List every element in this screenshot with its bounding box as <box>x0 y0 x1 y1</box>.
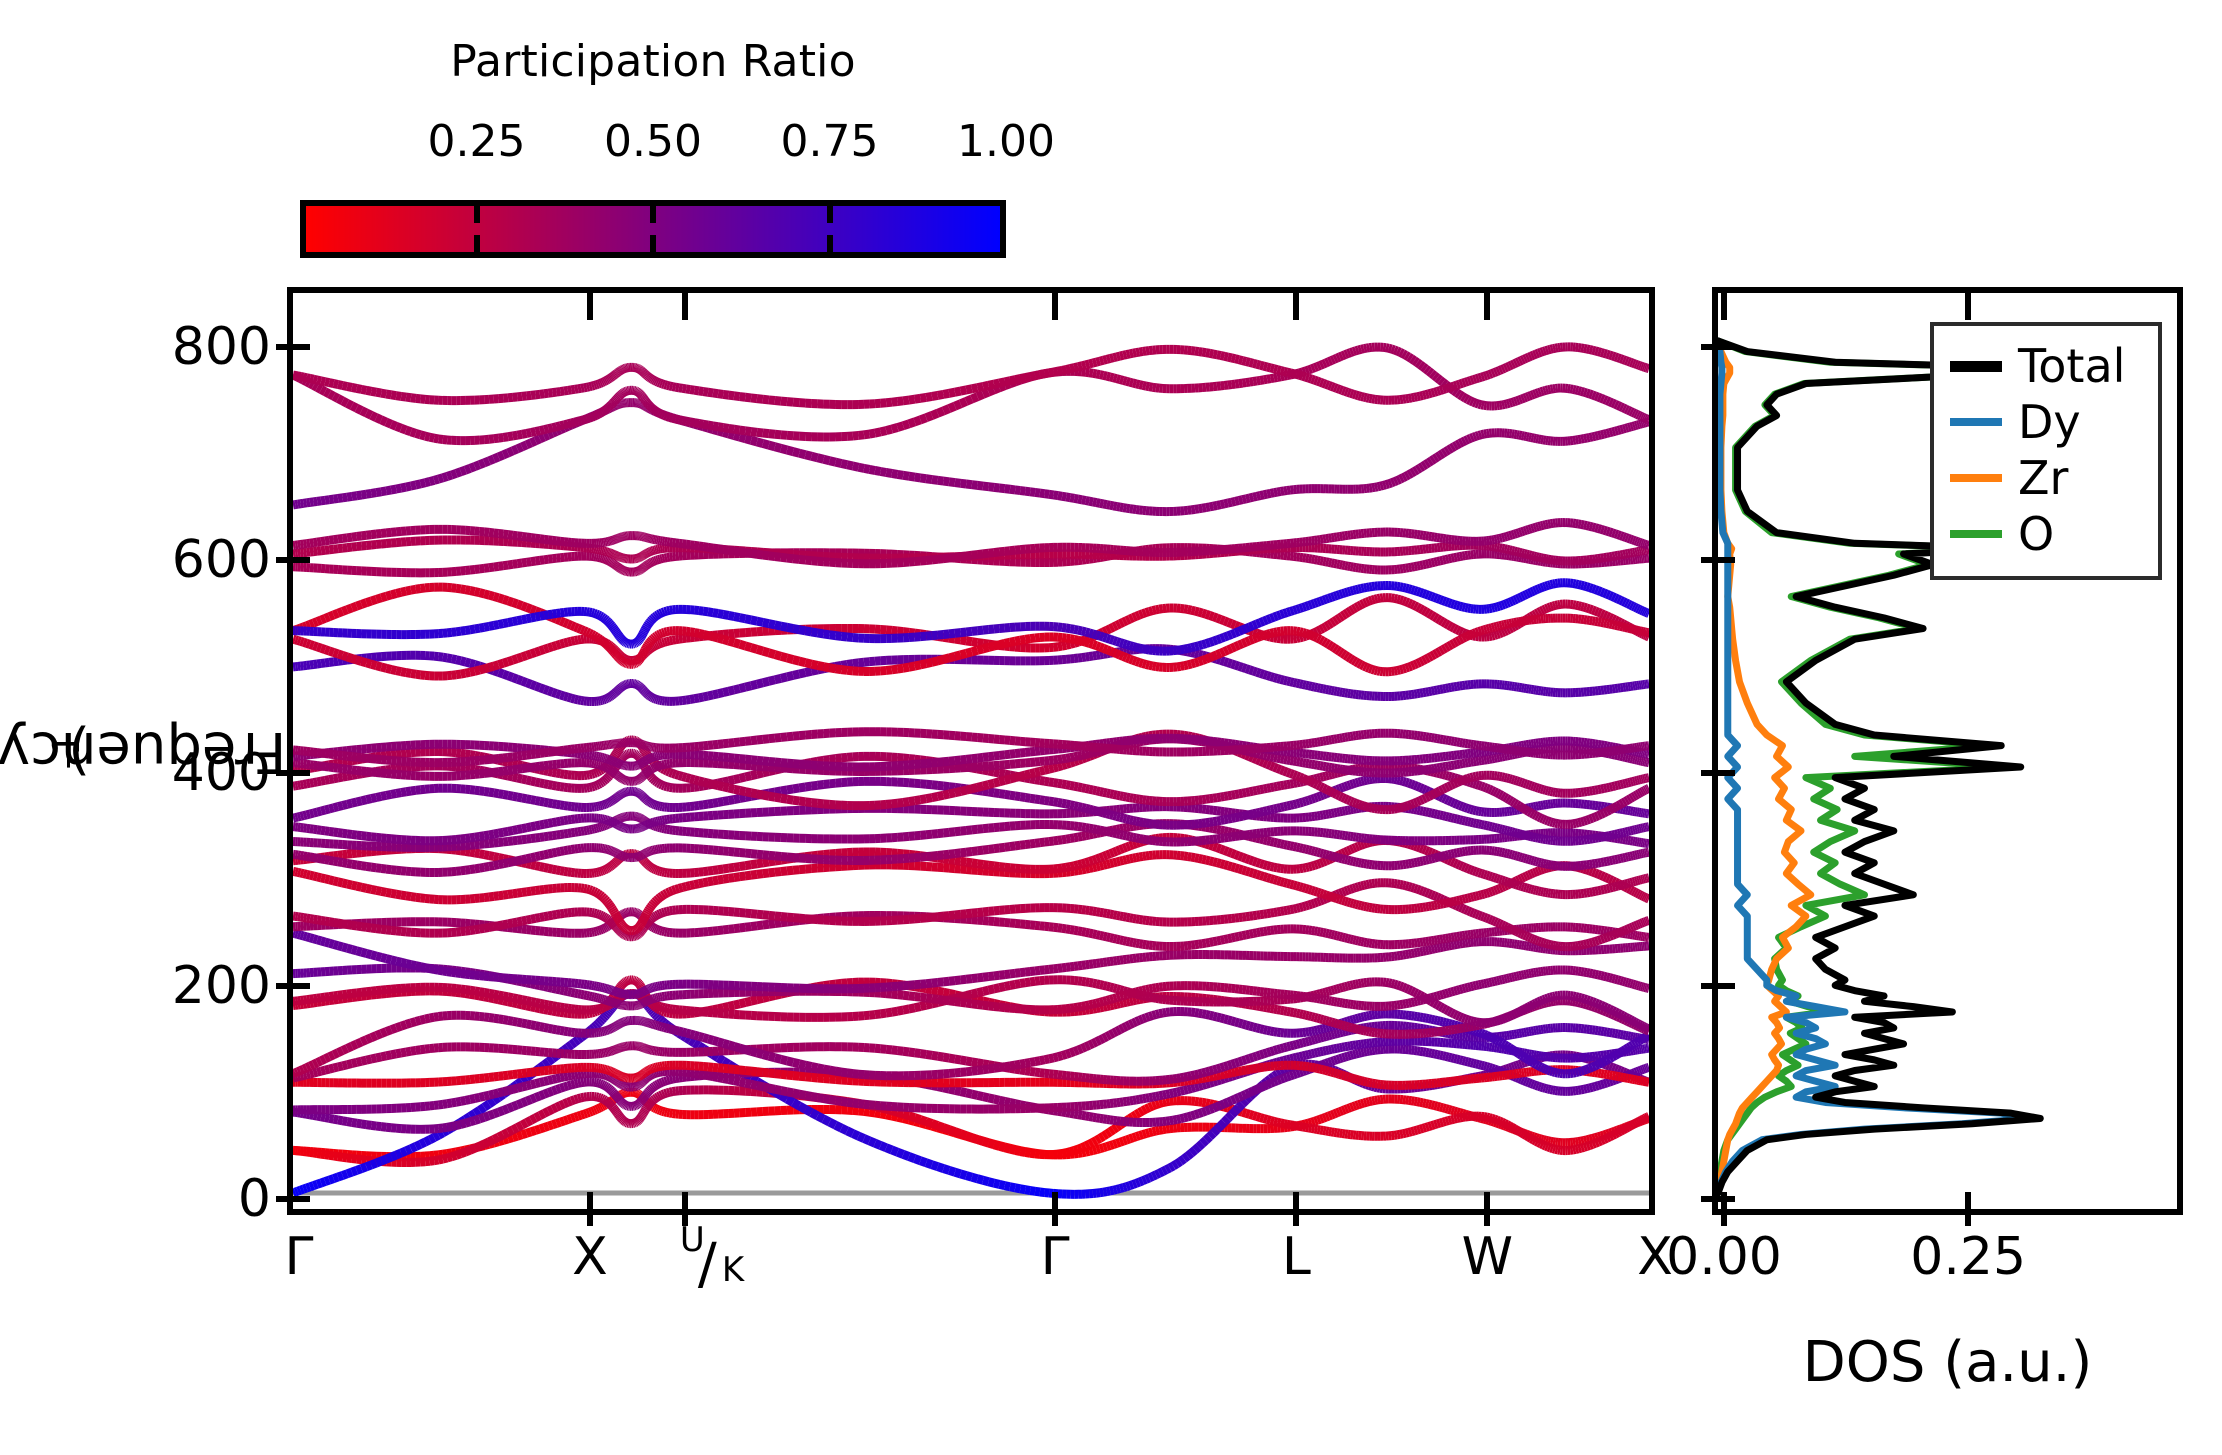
colorbar-tick-mark <box>827 206 833 223</box>
x-tick-label: X <box>572 1227 608 1287</box>
legend-line-swatch <box>1950 418 2002 426</box>
x-tick-mark <box>587 1192 593 1226</box>
y-tick-label: 0 <box>238 1169 271 1229</box>
legend-entry-zr[interactable]: Zr <box>1934 450 2158 506</box>
y-tick-label: 200 <box>172 956 271 1016</box>
y-tick-mark <box>276 557 310 563</box>
colorbar-tick-label: 1.00 <box>957 116 1055 167</box>
colorbar-tick-mark <box>474 206 480 223</box>
y-axis-label: Frequency (cm-1) <box>44 287 114 1215</box>
legend-line-swatch <box>1950 530 2002 538</box>
band-plot-area <box>293 293 1649 1209</box>
x-tick-label: Γ <box>285 1227 314 1287</box>
band-curves <box>293 293 1649 1209</box>
colorbar-tick-label: 0.50 <box>604 116 702 167</box>
dos-legend: TotalDyZrO <box>1930 322 2162 580</box>
dos-x-tick-mark-top <box>1721 292 1727 320</box>
legend-label: Total <box>2018 343 2125 389</box>
colorbar-tick-mark <box>827 235 833 252</box>
dos-y-tick-mark <box>1701 344 1735 350</box>
x-tick-label: W <box>1462 1227 1513 1287</box>
dos-x-axis-label: DOS (a.u.) <box>1712 1330 2183 1395</box>
legend-entry-total[interactable]: Total <box>1934 338 2158 394</box>
legend-label: O <box>2018 511 2054 557</box>
dos-x-tick-mark <box>1721 1192 1727 1226</box>
legend-label: Dy <box>2018 399 2081 445</box>
x-tick-label: Γ <box>1041 1227 1070 1287</box>
x-tick-mark-top <box>1484 292 1490 320</box>
colorbar-tick-label: 0.25 <box>428 116 526 167</box>
legend-line-swatch <box>1950 361 2002 372</box>
x-tick-mark <box>1052 1192 1058 1226</box>
dos-y-tick-mark <box>1701 557 1735 563</box>
colorbar-tick-mark <box>650 235 656 252</box>
x-tick-mark-top <box>1052 292 1058 320</box>
dos-x-tick-mark <box>1965 1192 1971 1226</box>
y-tick-label: 600 <box>172 530 271 590</box>
y-tick-label: 800 <box>172 317 271 377</box>
y-axis-label-tail: ) <box>68 719 90 784</box>
colorbar-tick-labels: 0.250.500.751.00 <box>300 116 1006 168</box>
phonon-band-dos-figure: Participation Ratio 0.250.500.751.00 020… <box>0 0 2222 1455</box>
dos-y-tick-mark <box>1701 1196 1735 1202</box>
y-tick-mark <box>276 344 310 350</box>
y-tick-mark <box>276 983 310 989</box>
x-tick-mark <box>1484 1192 1490 1226</box>
y-axis-label-text: Frequency (cm <box>0 719 286 784</box>
legend-label: Zr <box>2018 455 2068 501</box>
band-structure-axes: 0200400600800ΓXU/KΓLWX <box>287 287 1655 1215</box>
x-tick-mark <box>1293 1192 1299 1226</box>
x-tick-mark-top <box>1293 292 1299 320</box>
legend-entry-dy[interactable]: Dy <box>1934 394 2158 450</box>
dos-y-tick-mark <box>1701 983 1735 989</box>
colorbar-tick-mark <box>650 206 656 223</box>
y-tick-mark <box>276 1196 310 1202</box>
x-tick-label: L <box>1282 1227 1311 1287</box>
legend-line-swatch <box>1950 474 2002 482</box>
dos-y-tick-mark <box>1701 770 1735 776</box>
legend-entry-o[interactable]: O <box>1934 506 2158 562</box>
dos-x-tick-mark-top <box>1965 292 1971 320</box>
colorbar-title: Participation Ratio <box>300 36 1006 87</box>
dos-x-tick-label: 0.25 <box>1910 1227 2026 1287</box>
colorbar-tick-label: 0.75 <box>781 116 879 167</box>
x-tick-mark-top <box>682 292 688 320</box>
participation-ratio-colorbar <box>300 200 1006 258</box>
colorbar-tick-mark <box>474 235 480 252</box>
x-tick-label: U/K <box>680 1227 742 1290</box>
x-tick-mark-top <box>587 292 593 320</box>
dos-x-tick-label: 0.00 <box>1666 1227 1782 1287</box>
